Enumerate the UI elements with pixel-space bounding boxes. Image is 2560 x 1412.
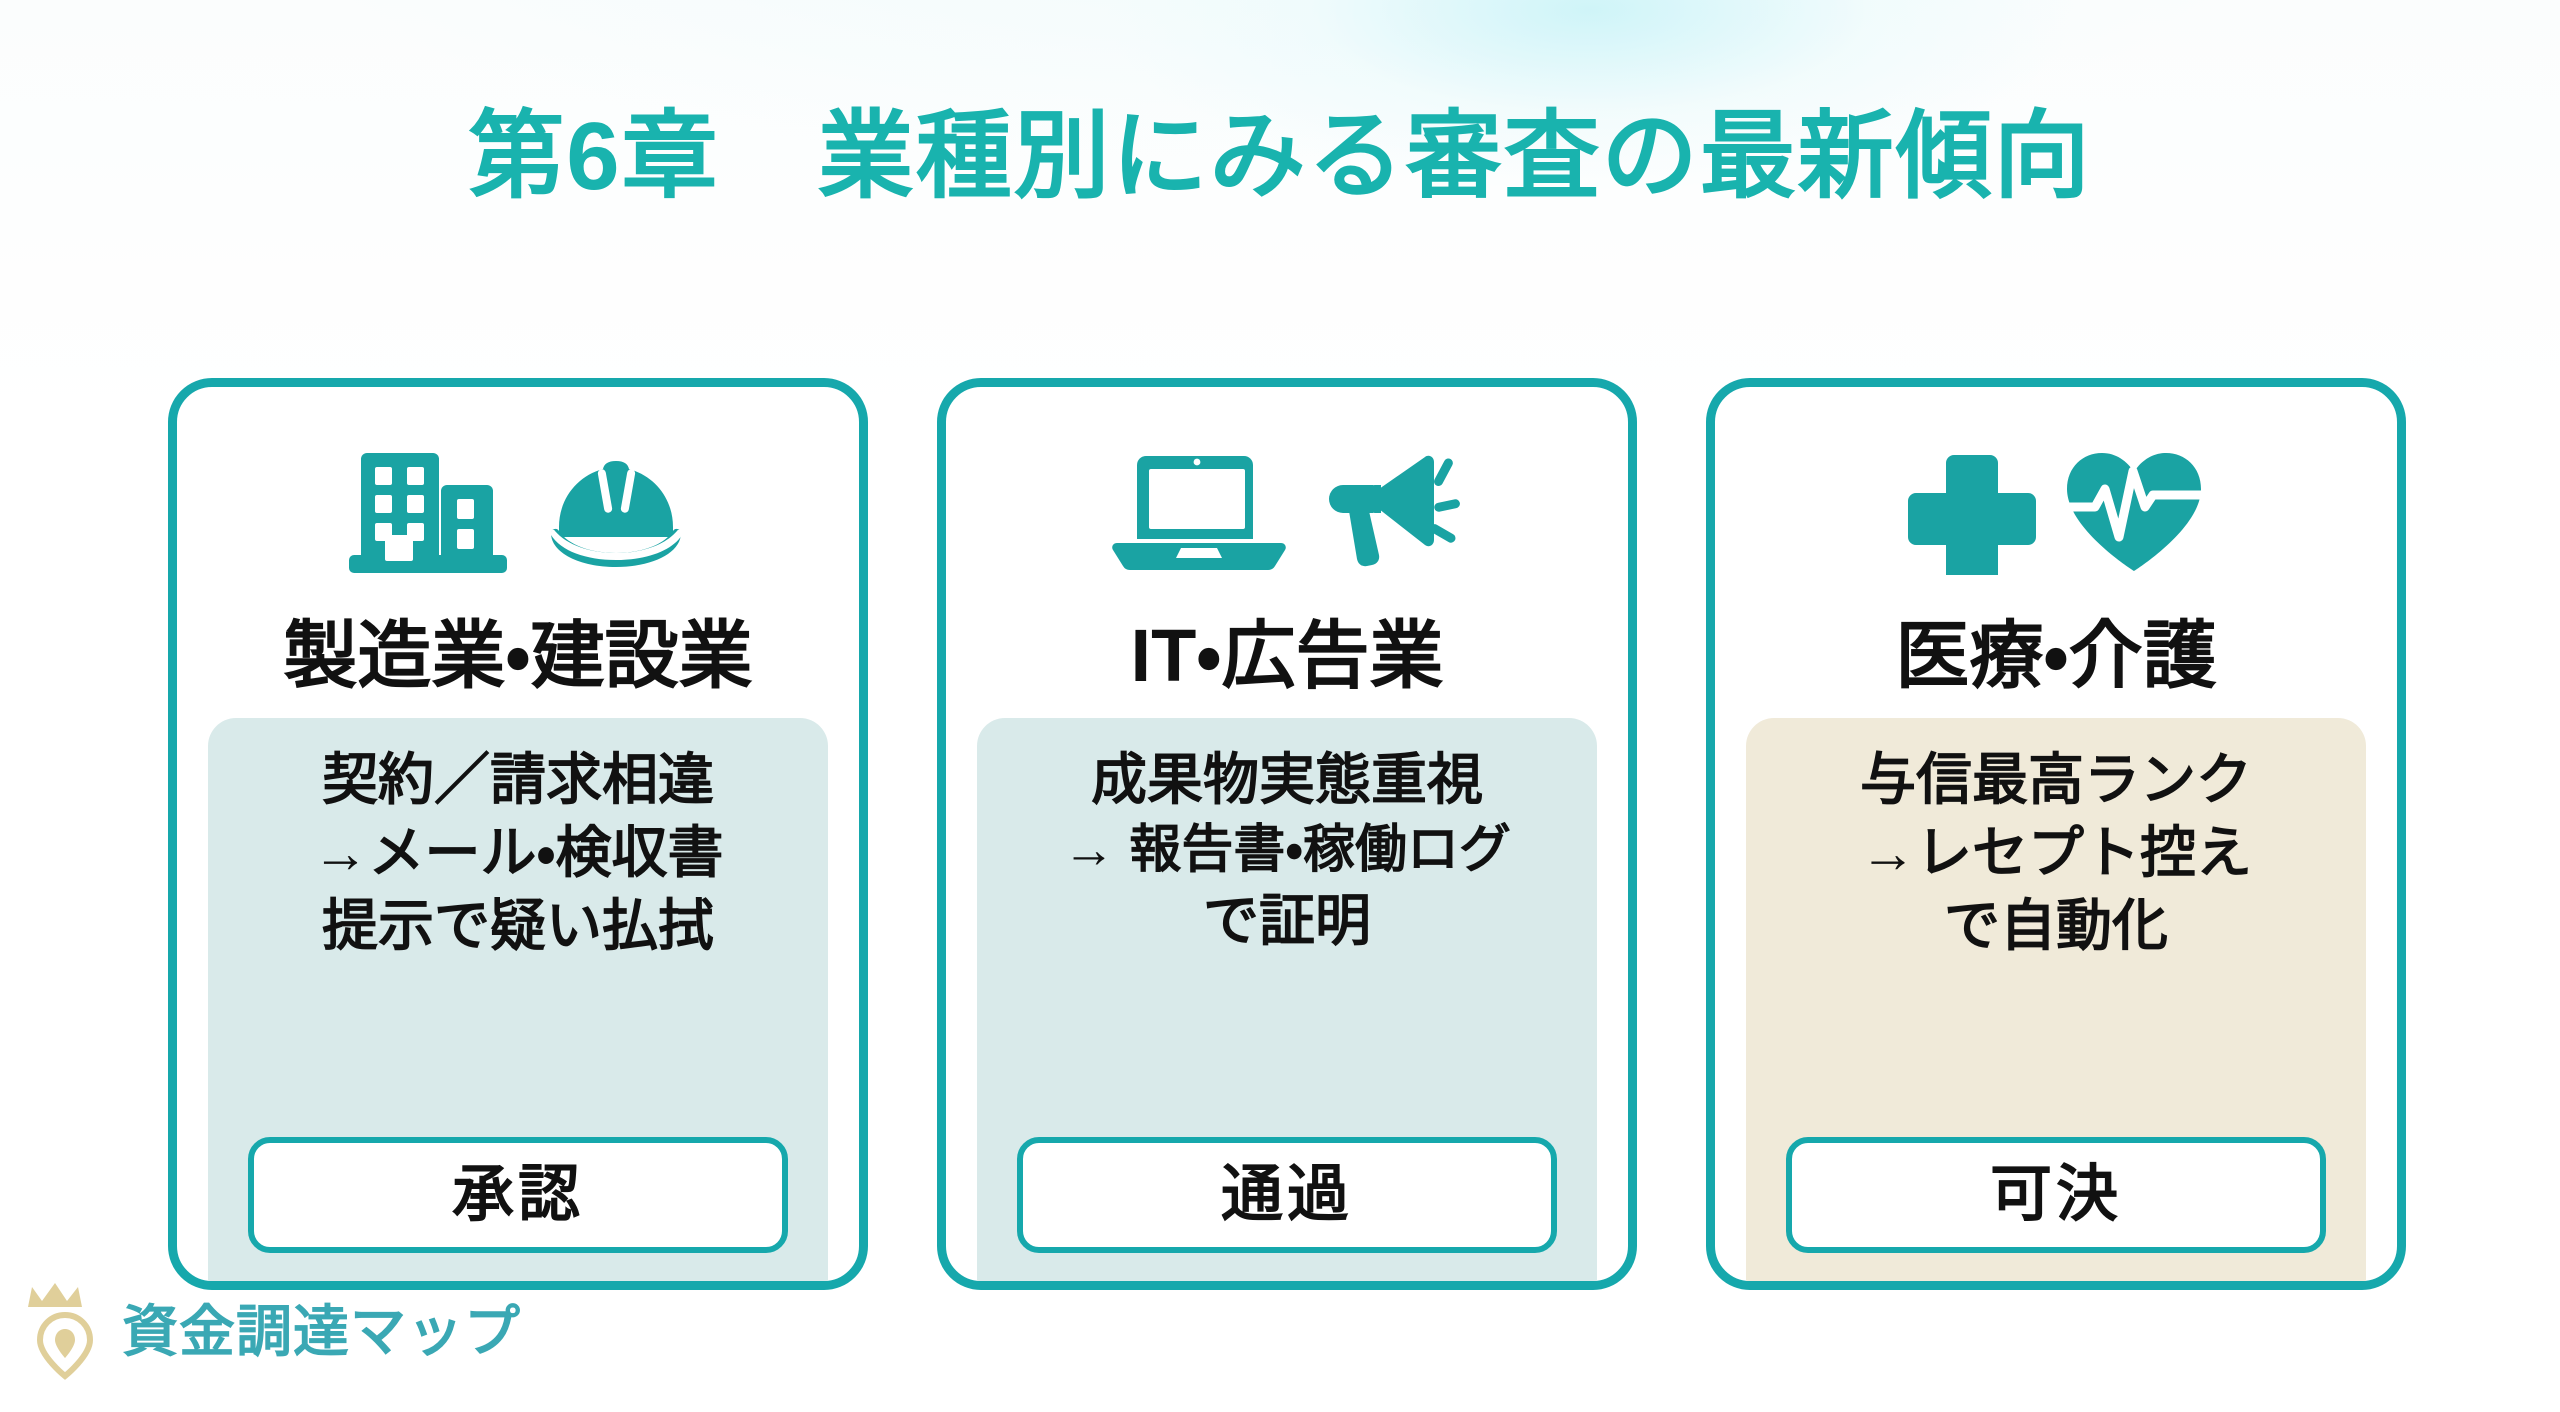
card-icon-row (946, 387, 1628, 611)
card-manufacturing-construction[interactable]: 製造業・建設業 契約／請求相違 →メール・検収書 提示で疑い払拭 承認 (168, 378, 868, 1290)
card-body-line: 提示で疑い払拭 (322, 890, 714, 963)
card-body-line: →メール・検収書 (312, 817, 723, 890)
hard-hat-icon (541, 447, 691, 575)
megaphone-icon (1313, 447, 1463, 575)
card-body-panel: 成果物実態重視 → 報告書・稼働ログ で証明 通過 (977, 718, 1597, 1281)
medical-cross-icon (1907, 447, 2037, 575)
card-body-line: で証明 (1203, 885, 1371, 958)
card-it-advertising[interactable]: IT・広告業 成果物実態重視 → 報告書・稼働ログ で証明 通過 (937, 378, 1637, 1290)
industry-card-row: 製造業・建設業 契約／請求相違 →メール・検収書 提示で疑い払拭 承認 (168, 378, 2406, 1290)
card-body-line: 与信最高ランク (1860, 744, 2252, 817)
card-body-line: → 報告書・稼働ログ (1063, 817, 1511, 885)
card-body-line: で自動化 (1944, 890, 2168, 963)
card-title: IT・広告業 (1131, 615, 1444, 696)
card-body-line: 成果物実態重視 (1091, 744, 1483, 817)
footer-logo-text: 資金調達マップ (122, 1304, 521, 1360)
status-badge-pass[interactable]: 通過 (1017, 1137, 1557, 1253)
slide-canvas: 第6章 業種別にみる審査の最新傾向 (0, 0, 2560, 1412)
status-badge-approval[interactable]: 承認 (248, 1137, 788, 1253)
card-medical-care[interactable]: 医療・介護 与信最高ランク →レセプト控え で自動化 可決 (1706, 378, 2406, 1290)
card-body-panel: 与信最高ランク →レセプト控え で自動化 可決 (1746, 718, 2366, 1281)
card-body-line: 契約／請求相違 (322, 744, 714, 817)
status-badge-resolution[interactable]: 可決 (1786, 1137, 2326, 1253)
card-icon-row (177, 387, 859, 611)
page-title: 第6章 業種別にみる審査の最新傾向 (0, 102, 2560, 212)
card-title: 医療・介護 (1895, 615, 2216, 696)
status-badge-label: 可決 (1990, 1164, 2122, 1226)
office-building-icon (345, 447, 515, 575)
crown-icon (28, 1283, 82, 1307)
card-icon-row (1715, 387, 2397, 611)
status-badge-label: 承認 (452, 1164, 584, 1226)
footer-logo[interactable]: 資金調達マップ (22, 1277, 521, 1386)
card-body-line: →レセプト控え (1860, 817, 2252, 890)
card-body-panel: 契約／請求相違 →メール・検収書 提示で疑い払拭 承認 (208, 718, 828, 1281)
heart-pulse-icon (2063, 447, 2205, 575)
map-pin-icon (22, 1277, 108, 1386)
card-title: 製造業・建設業 (283, 615, 752, 696)
laptop-icon (1111, 447, 1287, 575)
status-badge-label: 通過 (1221, 1164, 1353, 1226)
